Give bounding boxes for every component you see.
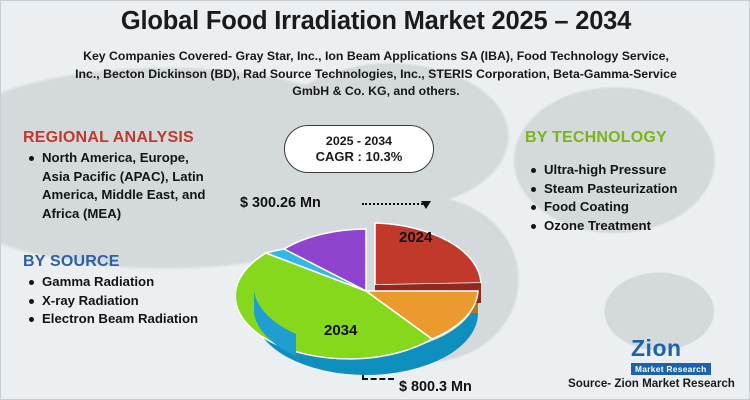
logo-wordmark: Zion bbox=[631, 337, 731, 359]
page-title: Global Food Irradiation Market 2025 – 20… bbox=[1, 7, 750, 36]
pie-label-2024: 2024 bbox=[399, 229, 432, 246]
by-source-heading: BY SOURCE bbox=[23, 253, 120, 271]
pie-chart-svg bbox=[236, 191, 496, 381]
list-item: North America, Europe, bbox=[27, 149, 257, 168]
by-technology-list: Ultra-high Pressure Steam Pasteurization… bbox=[529, 161, 739, 235]
list-item: Steam Pasteurization bbox=[529, 180, 739, 199]
list-item: Food Coating bbox=[529, 198, 739, 217]
pie-chart bbox=[236, 191, 496, 381]
regional-analysis-heading: REGIONAL ANALYSIS bbox=[23, 129, 194, 147]
key-companies-subtitle: Key Companies Covered- Gray Star, Inc., … bbox=[71, 48, 681, 101]
list-item: Ozone Treatment bbox=[529, 217, 739, 236]
pie-label-2034: 2034 bbox=[324, 322, 357, 339]
source-note: Source- Zion Market Research bbox=[568, 377, 735, 390]
cagr-period: 2025 - 2034 bbox=[326, 134, 392, 149]
infographic-root: Global Food Irradiation Market 2025 – 20… bbox=[0, 0, 750, 400]
cagr-badge: 2025 - 2034 CAGR : 10.3% bbox=[284, 125, 434, 173]
list-item: Ultra-high Pressure bbox=[529, 161, 739, 180]
end-value-callout: $ 800.3 Mn bbox=[399, 379, 472, 395]
zion-logo: Zion Market Research bbox=[631, 337, 731, 369]
regional-analysis-list: North America, Europe, Asia Pacific (APA… bbox=[27, 149, 257, 223]
list-item: Africa (MEA) bbox=[27, 205, 257, 224]
by-technology-heading: BY TECHNOLOGY bbox=[525, 129, 667, 147]
cagr-value: CAGR : 10.3% bbox=[316, 149, 403, 165]
list-item: Asia Pacific (APAC), Latin bbox=[27, 168, 257, 187]
logo-subtitle: Market Research bbox=[631, 363, 711, 375]
list-item: America, Middle East, and bbox=[27, 186, 257, 205]
